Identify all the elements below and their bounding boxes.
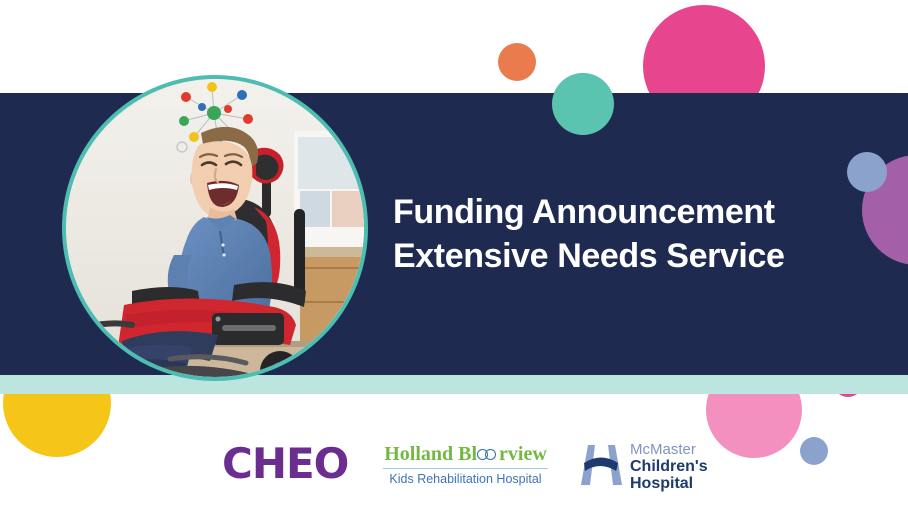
mint-banner-overlay (0, 375, 908, 394)
wheelchair-portrait-illustration (66, 79, 364, 377)
title-line-2: Extensive Needs Service (393, 234, 863, 278)
orange-circle-icon (498, 43, 536, 81)
slide-canvas: Funding Announcement Extensive Needs Ser… (0, 0, 908, 511)
mcmaster-h-mark-icon (578, 443, 624, 487)
holland-bloorview-logo: Holland Blrview Kids Rehabilitation Hosp… (383, 443, 548, 487)
hero-photo-image (66, 79, 364, 377)
holland-bloorview-divider (383, 468, 548, 469)
hero-photo (62, 75, 368, 381)
mcmaster-line-3: Hospital (630, 475, 708, 492)
holland-bloorview-tagline: Kids Rehabilitation Hospital (383, 471, 548, 487)
mcmaster-line-2: Children's (630, 458, 708, 475)
holland-bloorview-name-before: Holland Bl (384, 443, 477, 465)
holland-bloorview-name: Holland Blrview (383, 443, 548, 466)
teal-circle-overlay-icon (552, 73, 614, 135)
holland-bloorview-name-after: rview (499, 443, 547, 465)
mcmaster-wordmark: McMaster Children's Hospital (630, 441, 708, 492)
title-line-1: Funding Announcement (393, 190, 863, 234)
periwinkle-circle-top-overlay-icon (847, 152, 887, 192)
mcmaster-line-1: McMaster (630, 441, 708, 458)
partner-logo-row: CHEO Holland Blrview Kids Rehabilitation… (0, 425, 908, 505)
holland-bloorview-oo-icon (477, 447, 499, 461)
cheo-logo: CHEO (222, 442, 348, 486)
title-block: Funding Announcement Extensive Needs Ser… (393, 190, 863, 278)
